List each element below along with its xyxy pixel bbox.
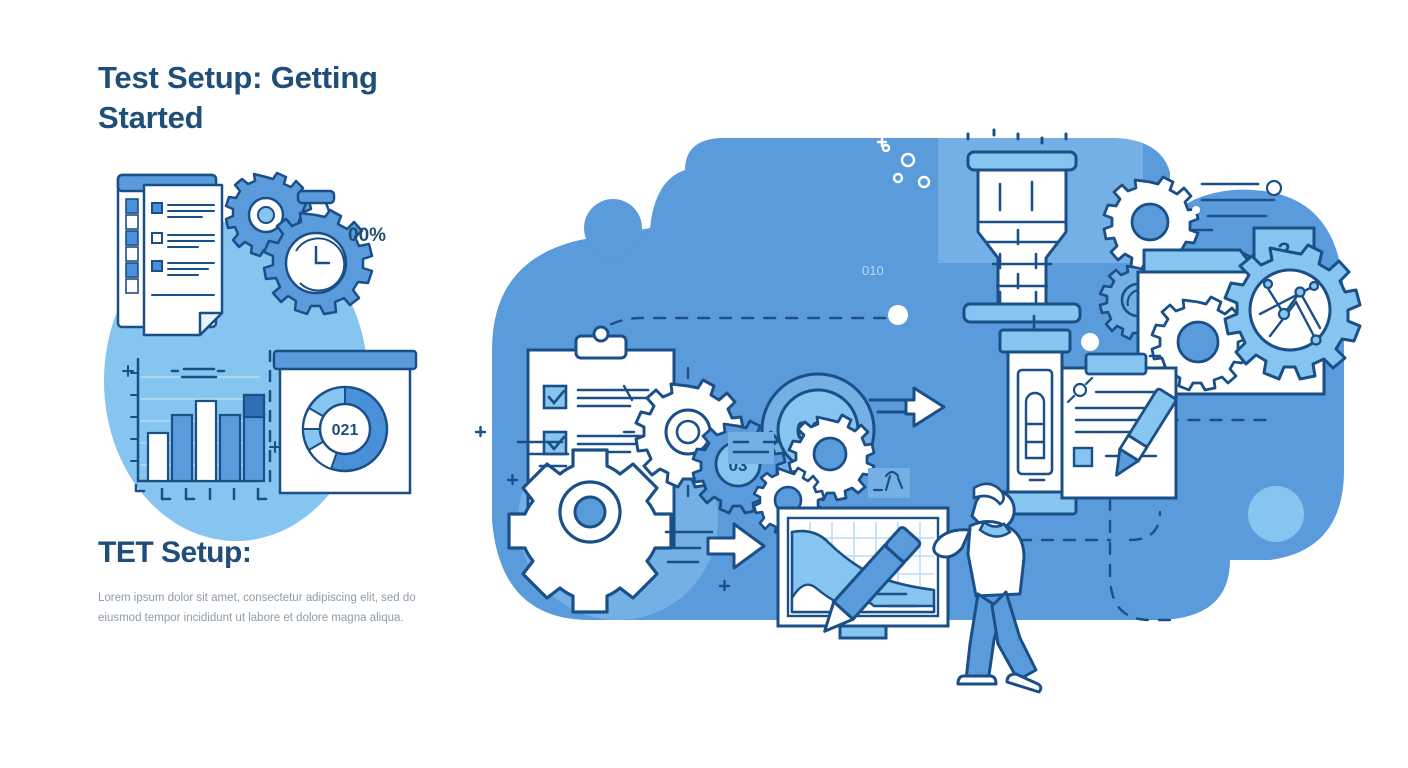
sub-section: TET Setup: Lorem ipsum dolor sit amet, c…	[98, 536, 443, 628]
poster-canvas: Test Setup: GettingStarted	[0, 0, 1408, 768]
donut-center-label: 021	[332, 422, 359, 439]
left-column: Test Setup: GettingStarted	[98, 58, 458, 137]
sub-body-text: Lorem ipsum dolor sit amet, consectetur …	[98, 588, 438, 628]
document-icon	[118, 175, 222, 335]
page-title-line-2: Started	[98, 100, 203, 135]
decor-circle-top-left	[584, 199, 642, 257]
decor-circle-bottom-right	[1248, 486, 1304, 542]
decor-dot-2	[1081, 333, 1099, 351]
donut-chart-icon: 021	[274, 351, 416, 493]
tiny-number-label: 010	[862, 263, 884, 278]
network-gear-icon	[1225, 245, 1360, 379]
page-title-line-1: Test Setup: Getting	[98, 60, 378, 95]
page-title: Test Setup: GettingStarted	[98, 58, 418, 137]
left-illustration: 00%	[98, 163, 438, 563]
percent-label: 00%	[348, 225, 386, 246]
right-illustration: 024 010	[470, 120, 1370, 650]
sub-heading: TET Setup:	[98, 536, 443, 570]
decor-dot-1	[888, 305, 908, 325]
